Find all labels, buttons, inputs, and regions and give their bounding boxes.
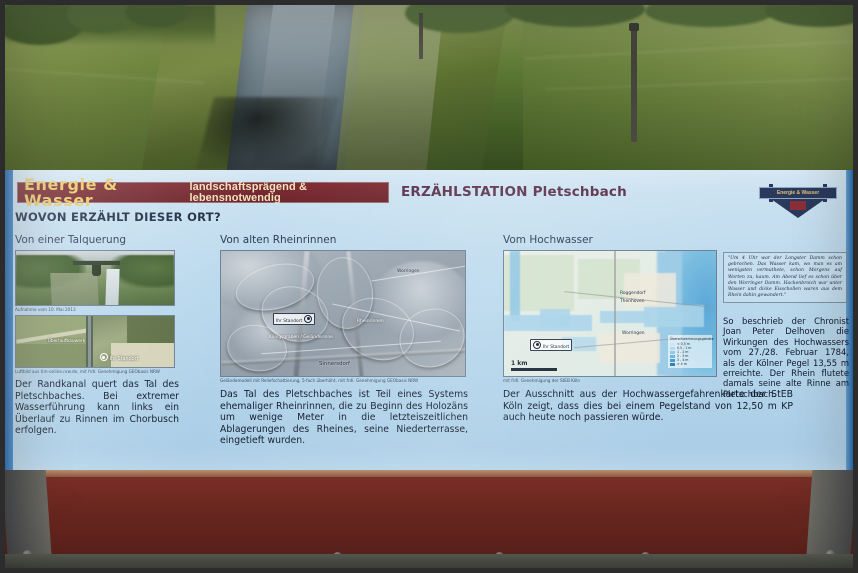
aerial-label-overflow-structure: Überlaufbauwerk [48, 339, 86, 344]
station-emblem-icon: Energie & Wasser [759, 184, 837, 218]
legend-swatch [670, 355, 675, 358]
aerial-label-your-location: Ihr Standort [100, 353, 139, 362]
flood-map-label-town-3: Worringen [622, 331, 645, 336]
map-relief-model: Worringen Rheinrinnen Königsgraben / Gel… [220, 250, 466, 377]
map-label-worringen: Worringen [397, 269, 420, 274]
photograph-of-information-sign: Energie & Wasser landschaftsprägend & le… [0, 0, 858, 573]
legend-swatch [670, 351, 675, 354]
map-label-koenigsgraben: Königsgraben / Geländerinne [269, 335, 333, 340]
flood-road [614, 251, 616, 377]
photo-bridge-pier [92, 265, 101, 277]
emblem-badge [790, 201, 806, 210]
legend-label: > 4 m [677, 362, 687, 366]
historic-quote-box: "Um 4 Uhr war der Longster Damm schon ge… [723, 252, 847, 303]
location-marker-icon [533, 341, 541, 349]
map-legend: Überschwemmungsgebiete < 0,5 m 0,5 - 1 m… [668, 335, 712, 368]
column-2-body: Das Tal des Pletschbaches ist Teil eines… [220, 389, 468, 447]
emblem-plate: Energie & Wasser [759, 187, 837, 199]
photo-trees-right [111, 255, 174, 287]
sign-base-panel [5, 470, 853, 568]
photo-canal-water [105, 269, 119, 305]
location-marker-icon [304, 315, 312, 323]
flood-map-marker-your-location: Ihr Standort [530, 339, 572, 351]
board-title-bar: Energie & Wasser landschaftsprägend & le… [17, 182, 389, 203]
map-marker-your-location-text: Ihr Standort [276, 319, 302, 324]
map-scale-bar: 1 km [511, 360, 557, 371]
station-heading: ERZÄHLSTATION Pletschbach [401, 184, 627, 200]
board-kicker: WOVON ERZÄHLT DIESER ORT? [15, 210, 221, 224]
board-title-main: Energie & Wasser [24, 177, 182, 209]
station-name: Pletschbach [533, 184, 627, 200]
column-2-heading: Von alten Rheinrinnen [220, 234, 468, 246]
emblem-plate-text: Energie & Wasser [760, 188, 836, 198]
aerial-field-b [16, 344, 89, 367]
aerial-canal-water [88, 316, 91, 367]
flood-urban-area [600, 333, 660, 363]
ground-strip [5, 554, 853, 568]
photo-aerial-overflow: Überlaufbauwerk Ihr Standort [15, 315, 175, 368]
landscape-background [5, 5, 853, 170]
historic-quote-text: "Um 4 Uhr war der Longster Damm schon ge… [728, 256, 842, 299]
legend-swatch [670, 363, 675, 366]
map-scale-line [511, 368, 557, 371]
column-3-heading: Vom Hochwasser [503, 234, 719, 246]
station-label: ERZÄHLSTATION [401, 184, 528, 200]
column-1-heading: Von einer Talquerung [15, 234, 179, 246]
map-scale-label: 1 km [511, 360, 557, 367]
flood-zone [510, 251, 520, 321]
map-marker-your-location: Ihr Standort [273, 313, 315, 325]
flood-zone [504, 315, 592, 331]
flood-zone [644, 305, 704, 327]
legend-row: > 4 m [670, 362, 710, 366]
column-hochwasser: Vom Hochwasser Roggendorf Thenhoven [503, 234, 719, 424]
photo-canal-valley [15, 250, 175, 306]
board-title-subtitle: landschaftsprägend & lebensnotwendig [189, 182, 388, 204]
map-flood-caption: mit frdl. Genehmigung der StEB Köln [503, 378, 719, 384]
legend-swatch [670, 347, 675, 350]
map-label-sinnersdorf: Sinnersdorf [319, 361, 350, 367]
column-talquerung: Von einer Talquerung Aufnahme vom 10. Ma… [15, 234, 179, 437]
sign-base-top-edge [5, 470, 853, 477]
photo-2-caption: Luftbild aus tim-online.nrw.de, mit frdl… [15, 369, 179, 375]
flood-map-label-town-2: Thenhoven [620, 299, 645, 304]
map-flood-hazard: Roggendorf Thenhoven Worringen Ihr Stand… [503, 250, 717, 377]
board-left-edge [5, 170, 13, 470]
legend-swatch [670, 359, 675, 362]
map-label-rheinrinnen: Rheinrinnen [357, 319, 384, 324]
chronicle-text: So beschrieb der Chronist Joan Peter Del… [723, 316, 849, 399]
photo-sheen [5, 5, 853, 170]
flood-zone [600, 311, 650, 323]
location-marker-icon [100, 353, 108, 361]
map-legend-title: Überschwemmungsgebiete [670, 337, 710, 341]
flood-map-label-town: Roggendorf [620, 291, 645, 296]
photo-track [50, 273, 99, 305]
map-relief-caption: Geländemodell mit Reliefschattierung, 5-… [220, 378, 468, 384]
aerial-field-c [127, 316, 174, 345]
photo-1-caption: Aufnahme vom 10. Mai 2013 [15, 307, 179, 313]
legend-swatch [670, 343, 675, 346]
column-1-body: Der Randkanal quert das Tal des Pletschb… [15, 379, 179, 437]
flood-map-marker-text: Ihr Standort [543, 345, 569, 350]
column-rheinrinnen: Von alten Rheinrinnen Worringen Rhein [220, 234, 468, 447]
information-board: Energie & Wasser landschaftsprägend & le… [5, 170, 853, 470]
aerial-label-your-location-text: Ihr Standort [110, 357, 139, 362]
